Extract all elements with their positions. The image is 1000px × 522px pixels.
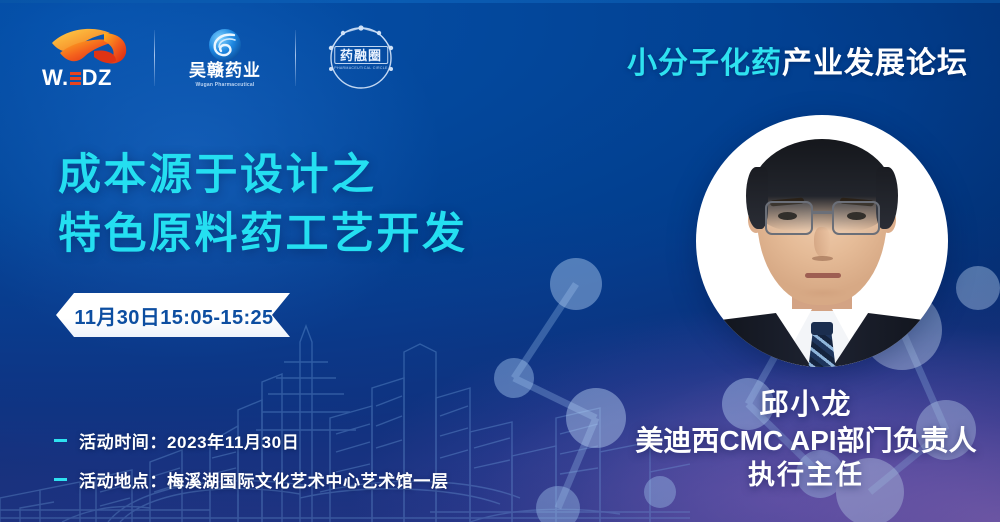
portrait-mouth — [805, 273, 841, 278]
logo-wedz-wordmark: W. DZ — [42, 65, 128, 91]
speaker-info: 邱小龙 美迪西CMC API部门负责人 执行主任 — [620, 388, 992, 492]
flame-bird-icon — [46, 23, 132, 69]
logo-wedz-text-left: W. — [42, 65, 69, 91]
list-item: 活动时间：2023年11月30日 — [54, 428, 449, 453]
page-title: 成本源于设计之 特色原料药工艺开发 — [58, 146, 468, 265]
speaker-title: 执行主任 — [620, 459, 992, 492]
logo-yaorongquan-cn: 药融圈 — [334, 46, 388, 64]
portrait-nostrils — [812, 256, 833, 261]
blue-globe-swirl-icon — [208, 28, 242, 62]
forum-title-highlight: 小分子化药 — [627, 47, 782, 80]
session-time-badge: 11月30日15:05-15:25 — [56, 293, 290, 337]
logo-wedz-text-right: DZ — [82, 65, 112, 91]
event-info-list: 活动时间：2023年11月30日 活动地点：梅溪湖国际文化艺术中心艺术馆一层 — [54, 428, 449, 506]
event-date-text: 活动时间：2023年11月30日 — [79, 428, 299, 453]
dash-icon — [54, 439, 67, 442]
top-accent-line — [0, 0, 1000, 3]
dash-icon — [54, 478, 67, 481]
event-venue-text: 活动地点：梅溪湖国际文化艺术中心艺术馆一层 — [79, 467, 449, 492]
portrait-glasses-bridge — [813, 211, 832, 214]
portrait-chin — [798, 287, 848, 299]
portrait-glasses-left-lens — [765, 201, 813, 235]
event-banner: W. DZ 吴赣药业 Wugan Pharmaceut — [0, 0, 1000, 522]
list-item: 活动地点：梅溪湖国际文化艺术中心艺术馆一层 — [54, 467, 449, 492]
avatar — [696, 115, 948, 367]
speaker-name: 邱小龙 — [620, 388, 992, 423]
logo-wedz-bars-icon — [70, 72, 81, 85]
forum-title: 小分子化药产业发展论坛 — [627, 38, 968, 82]
session-time-text: 11月30日15:05-15:25 — [72, 301, 273, 330]
portrait-nose — [814, 227, 830, 257]
logo-wugan[interactable]: 吴赣药业 Wugan Pharmaceutical — [181, 23, 269, 93]
logo-wedz[interactable]: W. DZ — [42, 23, 128, 93]
portrait-tie-knot — [811, 322, 833, 335]
logo-divider-2 — [295, 30, 296, 86]
logo-wugan-en: Wugan Pharmaceutical — [196, 82, 255, 88]
logo-divider-1 — [154, 30, 155, 86]
speaker-role: 美迪西CMC API部门负责人 — [620, 423, 992, 458]
logo-strip: W. DZ 吴赣药业 Wugan Pharmaceut — [42, 22, 400, 94]
logo-yaorongquan[interactable]: 药融圈 PHARMACEUTICAL CIRCLE — [322, 23, 400, 93]
logo-wugan-cn: 吴赣药业 — [189, 62, 261, 81]
logo-yaorongquan-en: PHARMACEUTICAL CIRCLE — [334, 66, 388, 70]
portrait-glasses-right-lens — [832, 201, 880, 235]
page-title-line-1: 成本源于设计之 — [58, 146, 468, 205]
logo-yaorongquan-text: 药融圈 PHARMACEUTICAL CIRCLE — [334, 46, 388, 70]
forum-title-rest: 产业发展论坛 — [782, 47, 968, 80]
page-title-line-2: 特色原料药工艺开发 — [58, 205, 468, 264]
